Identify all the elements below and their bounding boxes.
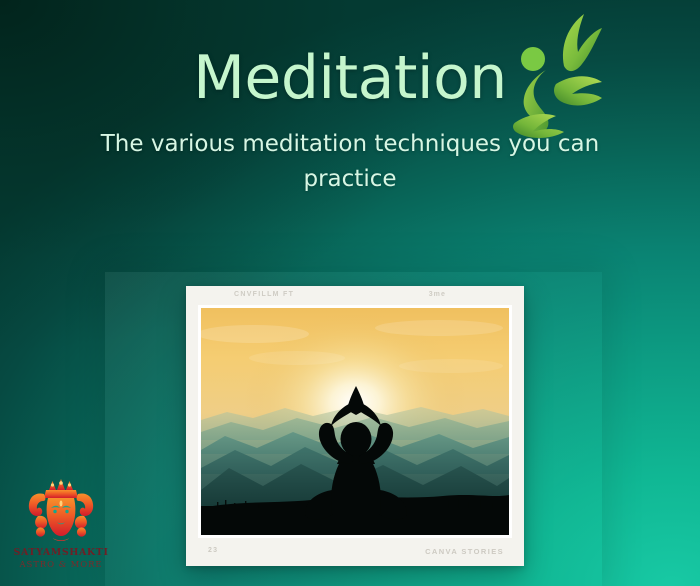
card-top-bar: CNVFILLM FT 3me — [186, 286, 524, 305]
card-bottom-bar: 23 CANVA STORIES — [186, 539, 524, 566]
photo-card[interactable]: CNVFILLM FT 3me — [186, 286, 524, 566]
card-bottom-right-label: CANVA STORIES — [425, 547, 504, 556]
card-top-left-label: CNVFILLM FT — [234, 291, 294, 298]
brand-logo: SATYAMSHAKTI ASTRO & MORE — [8, 474, 114, 578]
brand-tagline: ASTRO & MORE — [8, 560, 114, 570]
goddess-face-logo-icon — [8, 474, 114, 548]
meditation-slide: Meditation The various meditation techni… — [0, 0, 700, 586]
brand-name: SATYAMSHAKTI — [8, 547, 114, 558]
card-bottom-left-label: 23 — [208, 547, 218, 554]
meditation-silhouette-sunrise-photo — [201, 308, 509, 535]
card-top-right-label: 3me — [429, 291, 446, 298]
yoga-leaf-figure-icon — [498, 8, 604, 138]
photo-mat — [198, 305, 512, 538]
